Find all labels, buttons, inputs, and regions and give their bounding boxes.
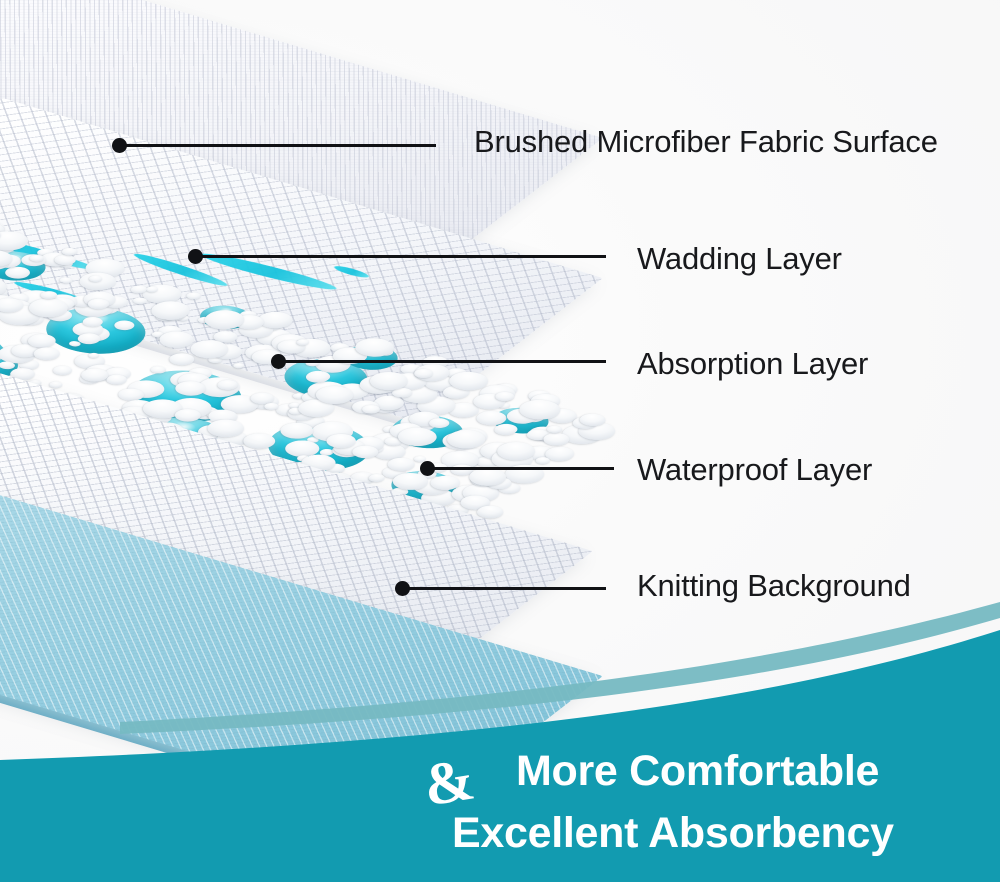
infographic-canvas: Brushed Microfiber Fabric Surface Waddin…: [0, 0, 1000, 882]
absorbent-bead: [185, 291, 204, 300]
exploded-layer-stack: [0, 0, 610, 780]
leader-dot-wadding-layer: [188, 249, 203, 264]
absorbent-bead: [49, 364, 75, 376]
banner-headline-line2: Excellent Absorbency: [452, 812, 894, 855]
label-knitting-background: Knitting Background: [637, 570, 911, 601]
leader-line-wadding-layer: [193, 255, 606, 258]
leader-dot-brushed-microfiber-fabric-surface: [112, 138, 127, 153]
absorbent-bead: [0, 228, 35, 254]
banner-headline-line1: More Comfortable: [516, 750, 879, 793]
label-waterproof-layer: Waterproof Layer: [637, 454, 872, 485]
leader-line-knitting-background: [400, 587, 606, 590]
leader-dot-absorption-layer: [271, 354, 286, 369]
liquid-streak: [331, 264, 371, 279]
label-wadding-layer: Wadding Layer: [637, 243, 842, 274]
absorbent-bead: [58, 276, 76, 285]
leader-line-brushed-microfiber-fabric-surface: [117, 144, 436, 147]
leader-dot-waterproof-layer: [420, 461, 435, 476]
absorbent-bead: [232, 362, 247, 369]
label-absorption-layer: Absorption Layer: [637, 348, 868, 379]
ampersand-glyph: &: [420, 748, 479, 815]
leader-dot-knitting-background: [395, 581, 410, 596]
leader-line-waterproof-layer: [425, 467, 614, 470]
leader-line-absorption-layer: [276, 360, 606, 363]
label-brushed-microfiber-fabric-surface: Brushed Microfiber Fabric Surface: [474, 126, 938, 157]
